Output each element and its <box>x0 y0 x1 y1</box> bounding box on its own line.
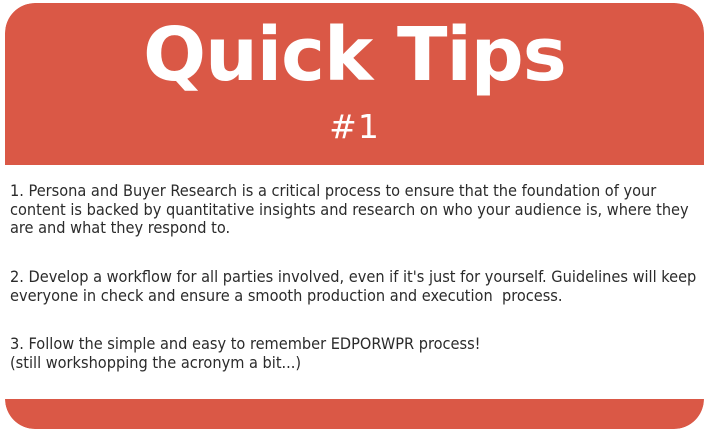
tip-paragraph-1: 1. Persona and Buyer Research is a criti… <box>10 182 702 238</box>
tip-paragraph-3: 3. Follow the simple and easy to remembe… <box>10 335 702 372</box>
body-area: 1. Persona and Buyer Research is a criti… <box>5 165 704 395</box>
footer-band <box>5 399 704 429</box>
quick-tips-card: Quick Tips #1 1. Persona and Buyer Resea… <box>5 3 704 429</box>
header-band: Quick Tips #1 <box>5 3 704 165</box>
tip-paragraph-2: 2. Develop a workflow for all parties in… <box>10 268 702 305</box>
page-title: Quick Tips <box>5 9 704 101</box>
tip-number-subtitle: #1 <box>5 107 704 147</box>
